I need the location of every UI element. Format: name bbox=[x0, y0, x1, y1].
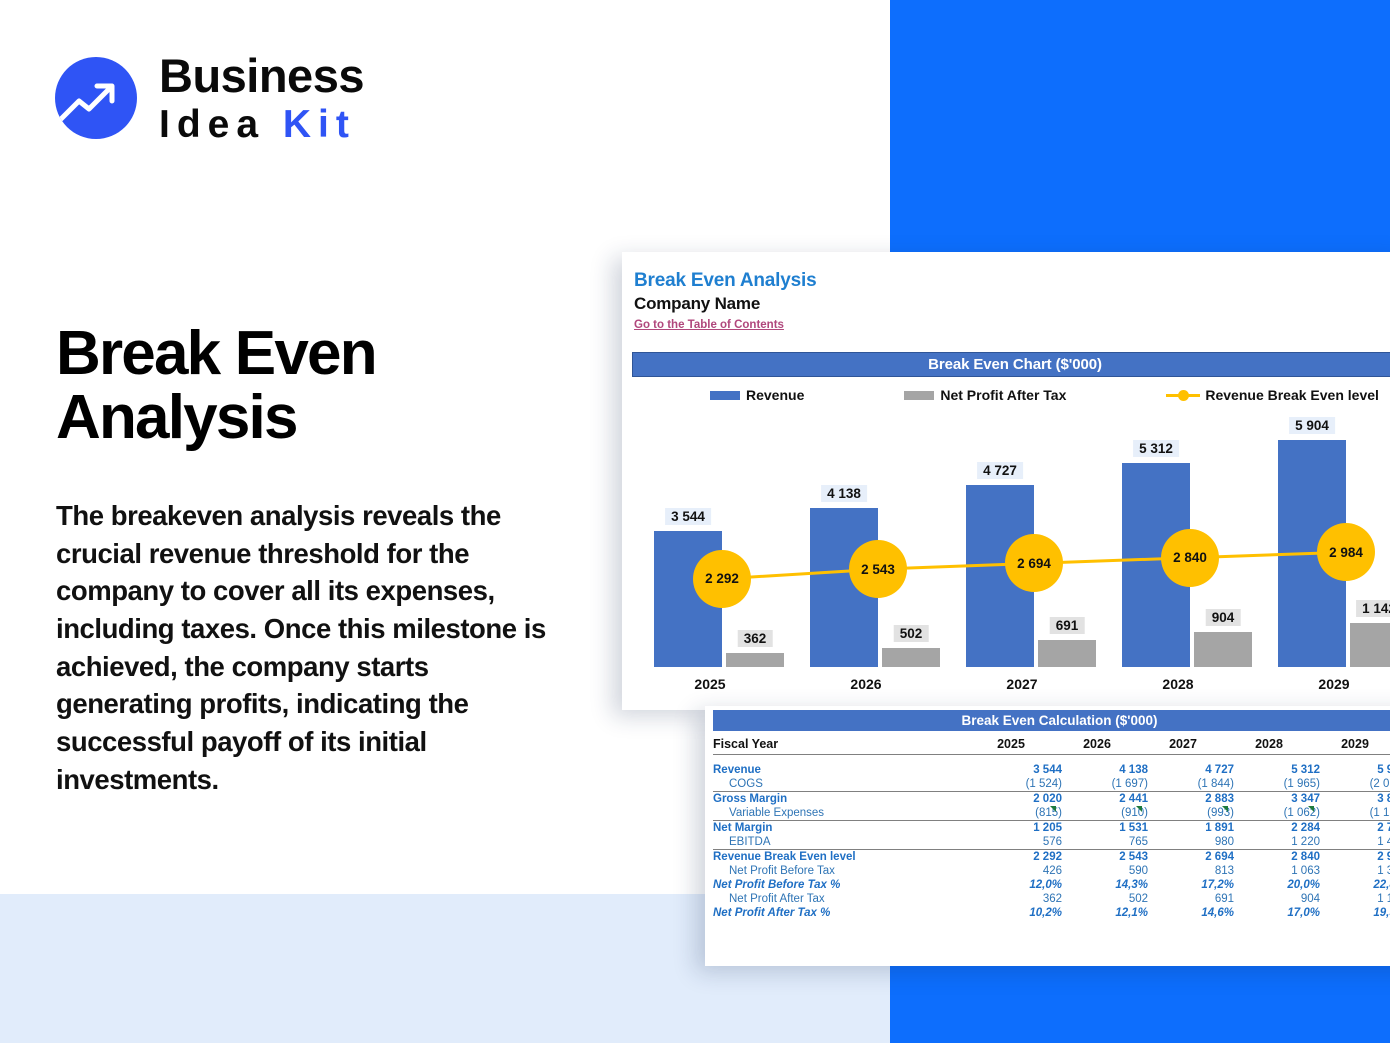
table-cell: 17,2% bbox=[1148, 878, 1234, 892]
table-row-label: Revenue Break Even level bbox=[713, 849, 976, 864]
break-even-bubble-2028[interactable]: 2 840 bbox=[1161, 529, 1219, 587]
table-row-label: Revenue bbox=[713, 763, 976, 777]
chart-legend: Revenue Net Profit After Tax Revenue Bre… bbox=[632, 382, 1390, 408]
break-even-table: Fiscal Year20252026202720282029Revenue3 … bbox=[713, 736, 1390, 920]
table-row[interactable]: Gross Margin2 0202 4412 8833 3473 838 bbox=[713, 791, 1390, 806]
comment-indicator-icon bbox=[1222, 806, 1228, 812]
table-cell: 576 bbox=[976, 835, 1062, 850]
table-cell: (815) bbox=[976, 806, 1062, 821]
table-cell: 1 891 bbox=[1148, 820, 1234, 835]
table-cell: (1 697) bbox=[1062, 777, 1148, 792]
table-cell: 4 138 bbox=[1062, 763, 1148, 777]
table-cell: 691 bbox=[1148, 892, 1234, 906]
table-cell: 3 838 bbox=[1320, 791, 1390, 806]
x-axis-label-2028: 2028 bbox=[1162, 676, 1193, 692]
chart-bars-container: 3 5443622 2924 1385022 5434 7276912 6945… bbox=[632, 417, 1390, 667]
table-cell: (1 965) bbox=[1234, 777, 1320, 792]
x-axis-label-2025: 2025 bbox=[694, 676, 725, 692]
slide-root: Business Idea Kit Break Even Analysis Th… bbox=[0, 0, 1390, 1043]
table-cell: 14,3% bbox=[1062, 878, 1148, 892]
table-cell: 2 840 bbox=[1234, 849, 1320, 864]
table-row-label: EBITDA bbox=[713, 835, 976, 850]
legend-swatch-revenue-icon bbox=[710, 391, 740, 400]
table-cell: 904 bbox=[1234, 892, 1320, 906]
table-cell: 2 441 bbox=[1062, 791, 1148, 806]
table-cell: 2 883 bbox=[1148, 791, 1234, 806]
table-cell: 1 142 bbox=[1320, 892, 1390, 906]
table-cell: 5 904 bbox=[1320, 763, 1390, 777]
x-axis-label-2029: 2029 bbox=[1318, 676, 1349, 692]
table-row[interactable]: Net Profit After Tax3625026919041 142 bbox=[713, 892, 1390, 906]
table-cell: 426 bbox=[976, 864, 1062, 878]
brand-name-idea: Idea bbox=[159, 103, 283, 146]
chart-title-bar: Break Even Chart ($'000) bbox=[632, 352, 1390, 377]
legend-item-net-profit-after-tax[interactable]: Net Profit After Tax bbox=[904, 382, 1066, 408]
table-cell: 2 984 bbox=[1320, 849, 1390, 864]
table-header-row: Fiscal Year20252026202720282029 bbox=[713, 736, 1390, 755]
table-cell: (1 062) bbox=[1234, 806, 1320, 821]
table-cell: 502 bbox=[1062, 892, 1148, 906]
table-row-label: Variable Expenses bbox=[713, 806, 976, 821]
chart-plot-area: 3 5443622 2924 1385022 5434 7276912 6945… bbox=[632, 417, 1390, 702]
table-header-rule bbox=[713, 755, 1390, 763]
brand-logo: Business Idea Kit bbox=[55, 52, 364, 144]
table-cell: 813 bbox=[1148, 864, 1234, 878]
break-even-bubble-2026[interactable]: 2 543 bbox=[849, 540, 907, 598]
table-row[interactable]: Net Margin1 2051 5311 8912 2842 716 bbox=[713, 820, 1390, 835]
table-cell: 590 bbox=[1062, 864, 1148, 878]
table-row-label: COGS bbox=[713, 777, 976, 792]
table-cell: 12,0% bbox=[976, 878, 1062, 892]
brand-name-line2: Idea Kit bbox=[159, 105, 364, 144]
legend-label-net-profit-after-tax: Net Profit After Tax bbox=[940, 387, 1066, 403]
table-row-label: Net Profit After Tax bbox=[713, 892, 976, 906]
table-cell: (1 524) bbox=[976, 777, 1062, 792]
trend-arrow-circle-icon bbox=[55, 57, 137, 139]
table-cell: (2 066) bbox=[1320, 777, 1390, 792]
decorative-blue-block-bottom bbox=[890, 965, 1390, 1043]
table-cell: 980 bbox=[1148, 835, 1234, 850]
table-header-2027: 2027 bbox=[1148, 736, 1234, 755]
table-row[interactable]: Revenue Break Even level2 2922 5432 6942… bbox=[713, 849, 1390, 864]
table-header-fiscal-year: Fiscal Year bbox=[713, 736, 976, 755]
table-row[interactable]: COGS(1 524)(1 697)(1 844)(1 965)(2 066) bbox=[713, 777, 1390, 792]
table-cell: 1 220 bbox=[1234, 835, 1320, 850]
chart-x-axis-labels: 20252026202720282029 bbox=[632, 672, 1390, 700]
brand-wordmark: Business Idea Kit bbox=[159, 52, 364, 144]
table-row-label: Gross Margin bbox=[713, 791, 976, 806]
break-even-calculation-panel: Break Even Calculation ($'000) Fiscal Ye… bbox=[705, 706, 1390, 966]
table-cell: 5 312 bbox=[1234, 763, 1320, 777]
brand-name-line1: Business bbox=[159, 52, 364, 99]
table-cell: 765 bbox=[1062, 835, 1148, 850]
table-cell: 1 531 bbox=[1062, 820, 1148, 835]
table-row[interactable]: Net Profit Before Tax %12,0%14,3%17,2%20… bbox=[713, 878, 1390, 892]
table-cell: 1 343 bbox=[1320, 864, 1390, 878]
table-cell: 10,2% bbox=[976, 906, 1062, 920]
table-cell: (910) bbox=[1062, 806, 1148, 821]
legend-swatch-net-profit-icon bbox=[904, 391, 934, 400]
table-cell: 2 284 bbox=[1234, 820, 1320, 835]
table-cell: 2 292 bbox=[976, 849, 1062, 864]
legend-item-revenue[interactable]: Revenue bbox=[710, 382, 804, 408]
legend-marker-line-icon bbox=[1166, 389, 1200, 401]
table-row-label: Net Margin bbox=[713, 820, 976, 835]
table-row[interactable]: Net Profit After Tax %10,2%12,1%14,6%17,… bbox=[713, 906, 1390, 920]
table-row[interactable]: Variable Expenses(815)(910)(993)(1 062)(… bbox=[713, 806, 1390, 821]
comment-indicator-icon bbox=[1136, 806, 1142, 812]
spreadsheet-heading: Break Even Analysis Company Name Go to t… bbox=[634, 270, 816, 333]
break-even-bubble-2027[interactable]: 2 694 bbox=[1005, 534, 1063, 592]
table-cell: 22,8% bbox=[1320, 878, 1390, 892]
table-row-label: Net Profit Before Tax bbox=[713, 864, 976, 878]
x-axis-label-2026: 2026 bbox=[850, 676, 881, 692]
table-cell: 3 544 bbox=[976, 763, 1062, 777]
company-name: Company Name bbox=[634, 294, 816, 314]
table-header-2029: 2029 bbox=[1320, 736, 1390, 755]
table-row-label: Net Profit After Tax % bbox=[713, 906, 976, 920]
table-spacer-row bbox=[713, 755, 1390, 763]
legend-label-revenue: Revenue bbox=[746, 387, 804, 403]
page-title: Break Even Analysis bbox=[56, 322, 556, 451]
sheet-title: Break Even Analysis bbox=[634, 270, 816, 292]
table-cell: 2 694 bbox=[1148, 849, 1234, 864]
table-cell: 17,0% bbox=[1234, 906, 1320, 920]
table-cell: 1 063 bbox=[1234, 864, 1320, 878]
decorative-blue-block-top bbox=[890, 0, 1390, 260]
table-cell: 2 716 bbox=[1320, 820, 1390, 835]
x-axis-label-2027: 2027 bbox=[1006, 676, 1037, 692]
break-even-line-series bbox=[632, 417, 1390, 667]
table-of-contents-link[interactable]: Go to the Table of Contents bbox=[634, 319, 784, 331]
comment-indicator-icon bbox=[1050, 806, 1056, 812]
table-cell: 14,6% bbox=[1148, 906, 1234, 920]
table-cell: 20,0% bbox=[1234, 878, 1320, 892]
legend-label-break-even-level: Revenue Break Even level bbox=[1205, 387, 1379, 403]
legend-item-break-even-level[interactable]: Revenue Break Even level bbox=[1166, 382, 1379, 408]
table-cell: (1 122) bbox=[1320, 806, 1390, 821]
table-cell: 4 727 bbox=[1148, 763, 1234, 777]
table-row[interactable]: Revenue3 5444 1384 7275 3125 904 bbox=[713, 763, 1390, 777]
table-header-2028: 2028 bbox=[1234, 736, 1320, 755]
table-row[interactable]: EBITDA5767659801 2201 490 bbox=[713, 835, 1390, 850]
table-cell: 12,1% bbox=[1062, 906, 1148, 920]
table-cell: 2 543 bbox=[1062, 849, 1148, 864]
table-title-bar: Break Even Calculation ($'000) bbox=[713, 710, 1390, 731]
description-paragraph: The breakeven analysis reveals the cruci… bbox=[56, 497, 551, 798]
break-even-bubble-2029[interactable]: 2 984 bbox=[1317, 523, 1375, 581]
table-cell: 3 347 bbox=[1234, 791, 1320, 806]
table-cell: (993) bbox=[1148, 806, 1234, 821]
comment-indicator-icon bbox=[1308, 806, 1314, 812]
table-cell: 1 205 bbox=[976, 820, 1062, 835]
table-cell: (1 844) bbox=[1148, 777, 1234, 792]
break-even-bubble-2025[interactable]: 2 292 bbox=[693, 550, 751, 608]
break-even-chart-panel: Break Even Analysis Company Name Go to t… bbox=[622, 252, 1390, 710]
table-cell: 1 490 bbox=[1320, 835, 1390, 850]
table-header-2025: 2025 bbox=[976, 736, 1062, 755]
table-cell: 2 020 bbox=[976, 791, 1062, 806]
table-row[interactable]: Net Profit Before Tax4265908131 0631 343 bbox=[713, 864, 1390, 878]
table-cell: 19,3% bbox=[1320, 906, 1390, 920]
table-header-2026: 2026 bbox=[1062, 736, 1148, 755]
table-row-label: Net Profit Before Tax % bbox=[713, 878, 976, 892]
brand-name-kit: Kit bbox=[283, 103, 356, 146]
table-cell: 362 bbox=[976, 892, 1062, 906]
